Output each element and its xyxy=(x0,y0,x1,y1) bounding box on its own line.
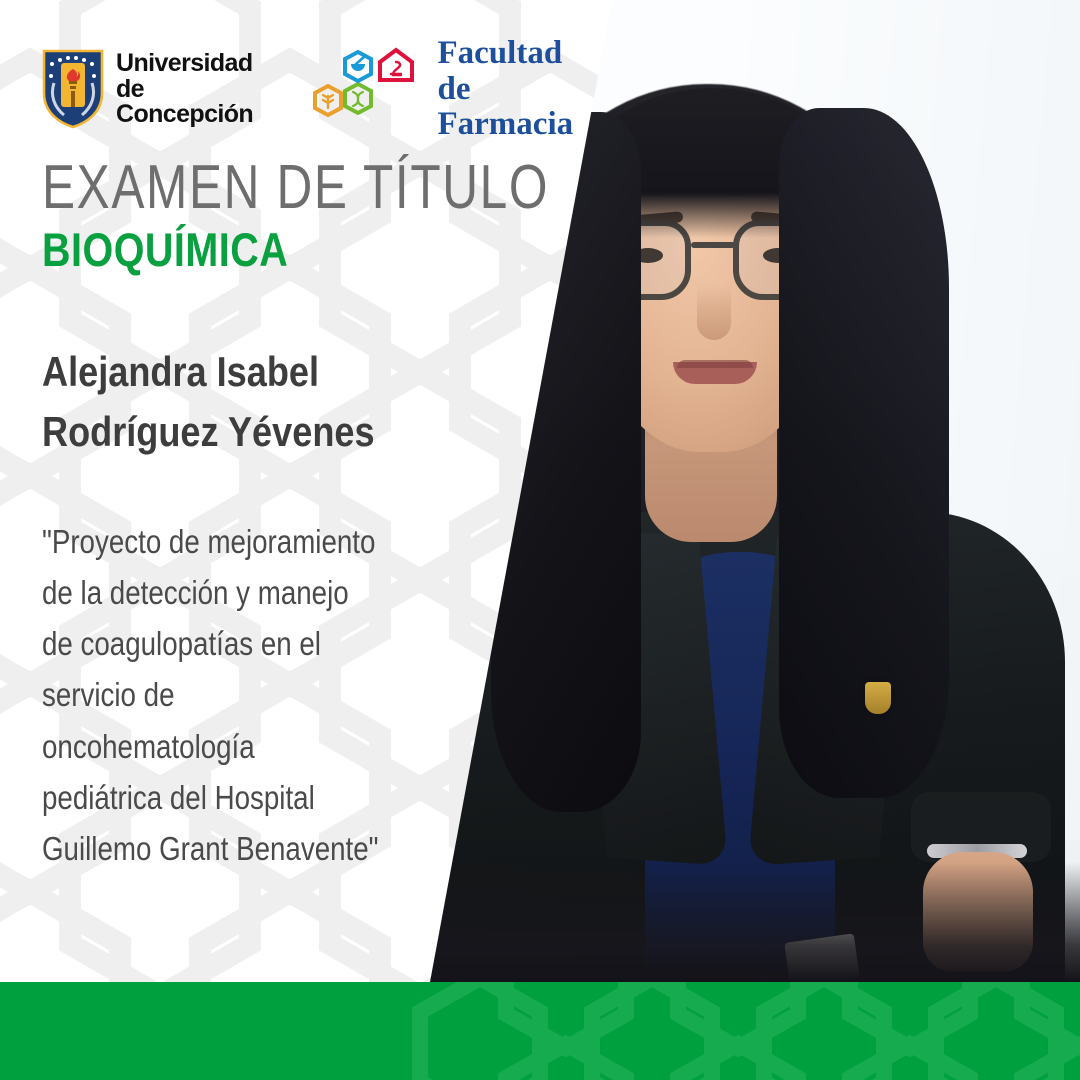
udec-logo-line2: de Concepción xyxy=(116,77,286,127)
thesis-line: Guillemo Grant Benavente" xyxy=(42,823,412,874)
udec-shield-icon xyxy=(42,49,104,129)
poster-canvas: UNIVERS FACU PROY MAN ONC De xyxy=(0,0,1080,1080)
bowl-of-hygieia-hex-icon xyxy=(380,50,412,80)
faculty-logo-line1: Facultad xyxy=(438,36,613,72)
hexagon-pattern xyxy=(0,982,1080,1080)
thesis-title: "Proyecto de mejoramiento de la detecció… xyxy=(42,516,412,874)
udec-logo: Universidad de Concepción xyxy=(42,49,286,129)
info-column: Universidad de Concepción xyxy=(0,0,612,982)
page-title: EXAMEN DE TÍTULO xyxy=(42,152,549,223)
green-footer-band xyxy=(0,982,1080,1080)
thesis-line: servicio de xyxy=(42,669,412,720)
mortar-pestle-hex-icon xyxy=(345,52,371,81)
student-name: Alejandra Isabel Rodríguez Yévenes xyxy=(42,342,412,461)
faculty-logo-line2: de Farmacia xyxy=(438,72,613,143)
thesis-line: "Proyecto de mejoramiento xyxy=(42,516,412,567)
dna-hex-icon xyxy=(345,84,371,113)
thesis-line: pediátrica del Hospital xyxy=(42,772,412,823)
thesis-line: de la detección y manejo xyxy=(42,567,412,618)
thesis-line: de coagulopatías en el xyxy=(42,618,412,669)
udec-logo-line1: Universidad xyxy=(116,51,286,76)
student-name-line2: Rodríguez Yévenes xyxy=(42,402,412,462)
thesis-line: oncohematología xyxy=(42,721,412,772)
program-name: BIOQUÍMICA xyxy=(42,222,288,277)
logo-row: Universidad de Concepción xyxy=(42,36,612,143)
faculty-logo: Facultad de Farmacia xyxy=(308,36,613,143)
student-name-line1: Alejandra Isabel xyxy=(42,342,412,402)
wheat-hex-icon xyxy=(315,86,341,115)
